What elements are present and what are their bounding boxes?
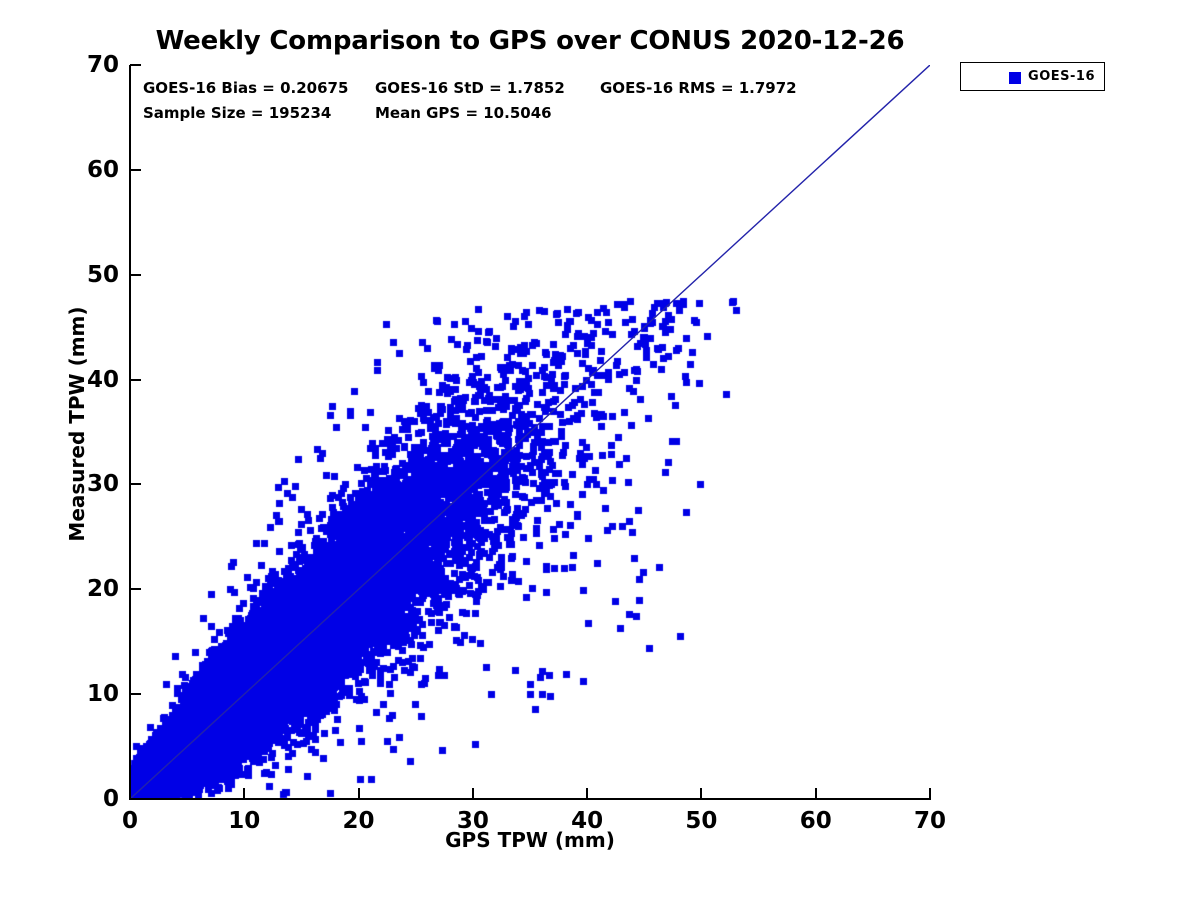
- y-tick-mark: [130, 64, 141, 66]
- y-tick-mark: [130, 693, 141, 695]
- y-tick-label: 40: [87, 367, 119, 393]
- y-tick-mark: [130, 169, 141, 171]
- legend-marker-goes-16: [1009, 72, 1021, 84]
- scatter-points-layer: [130, 65, 930, 799]
- y-tick-mark: [130, 379, 141, 381]
- chart-root: Weekly Comparison to GPS over CONUS 2020…: [0, 0, 1200, 900]
- y-axis-line: [129, 65, 131, 800]
- y-tick-label: 50: [87, 262, 119, 288]
- annotation-mean-gps: Mean GPS = 10.5046: [375, 104, 552, 122]
- y-tick-label: 70: [87, 52, 119, 78]
- y-tick-label: 30: [87, 471, 119, 497]
- legend-label-goes-16: GOES-16: [1028, 69, 1095, 84]
- plot-area: 010203040506070 010203040506070: [130, 65, 930, 799]
- annotation-std: GOES-16 StD = 1.7852: [375, 79, 565, 97]
- annotation-rms: GOES-16 RMS = 1.7972: [600, 79, 797, 97]
- chart-title: Weekly Comparison to GPS over CONUS 2020…: [0, 26, 1060, 56]
- y-tick-label: 10: [87, 681, 119, 707]
- legend-box: GOES-16: [960, 62, 1105, 91]
- y-tick-label: 0: [103, 786, 119, 812]
- y-tick-mark: [130, 483, 141, 485]
- y-tick-label: 60: [87, 157, 119, 183]
- y-tick-label: 20: [87, 576, 119, 602]
- y-tick-mark: [130, 274, 141, 276]
- annotation-sample-size: Sample Size = 195234: [143, 104, 331, 122]
- x-axis-title: GPS TPW (mm): [130, 828, 930, 852]
- annotation-bias: GOES-16 Bias = 0.20675: [143, 79, 348, 97]
- x-axis-line: [129, 798, 931, 800]
- y-axis-title: Measured TPW (mm): [65, 57, 89, 791]
- y-tick-mark: [130, 588, 141, 590]
